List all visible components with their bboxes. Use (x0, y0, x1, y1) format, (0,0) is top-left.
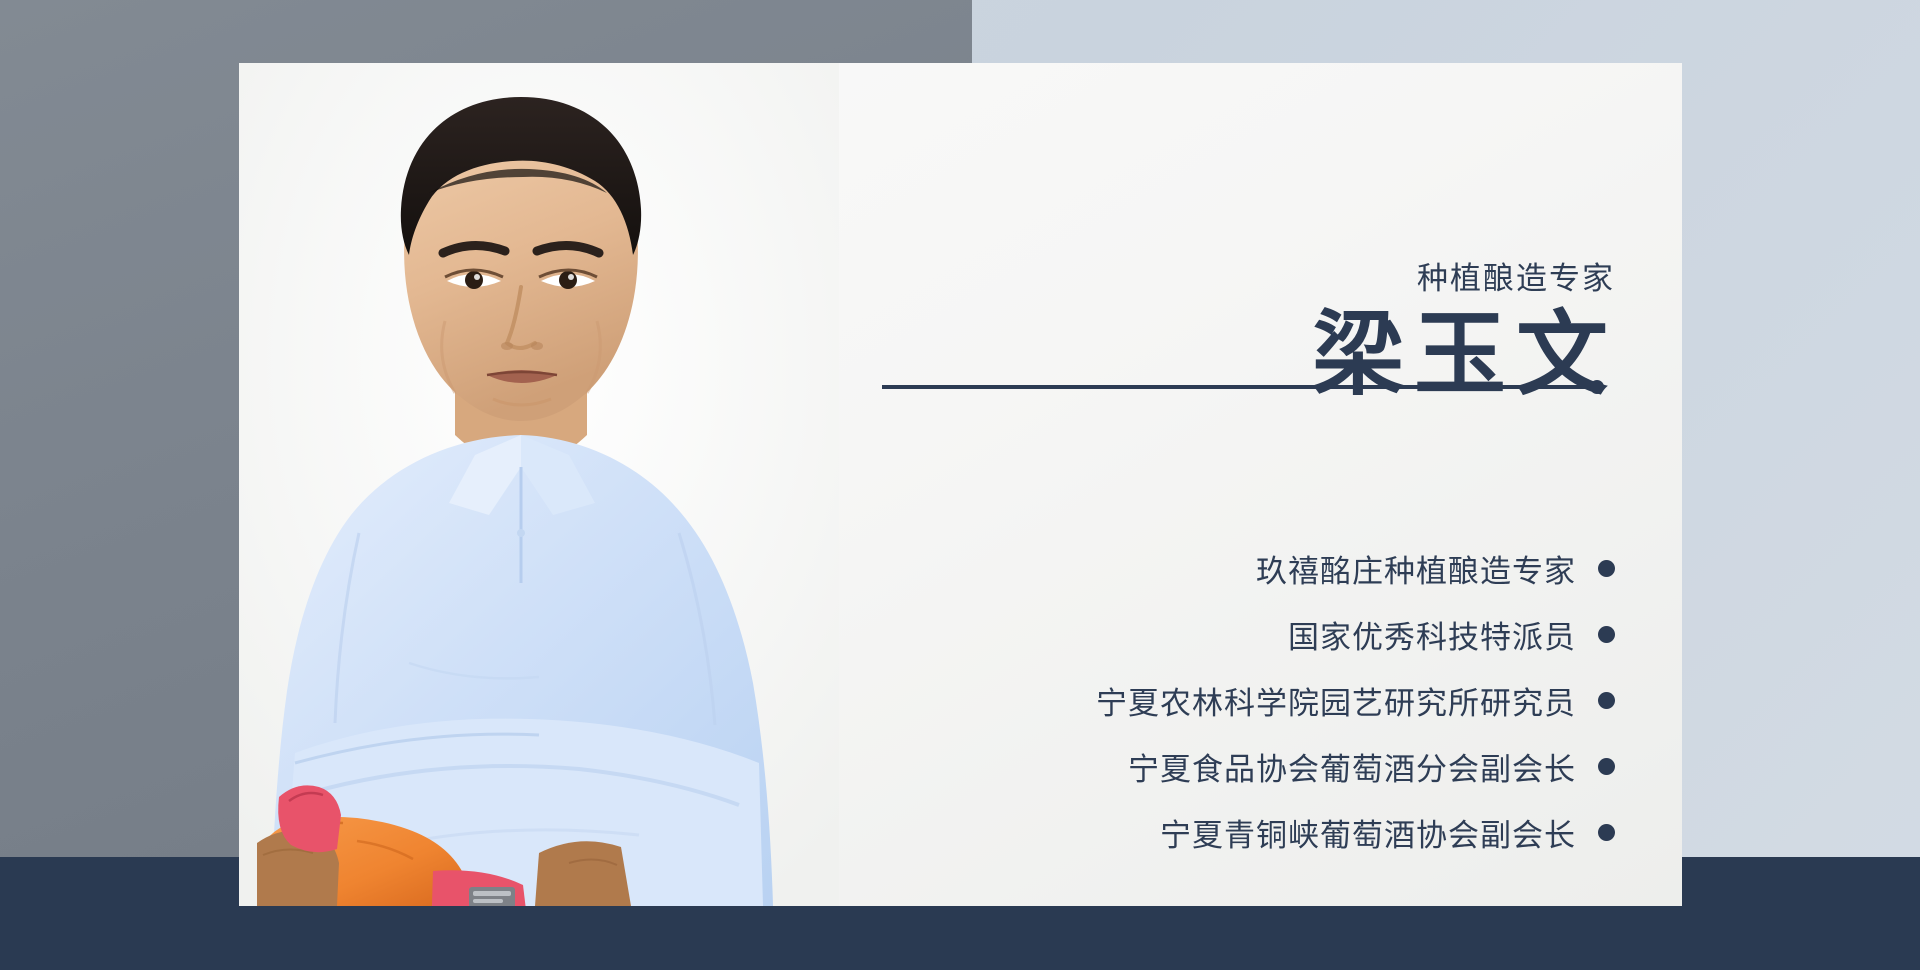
expert-portrait-photo (239, 63, 839, 906)
expert-profile-card: 种植酿造专家 梁玉文 玖禧酩庄种植酿造专家 国家优秀科技特派员 宁夏农林科学院园… (239, 63, 1682, 906)
background-navy-right-band (1681, 857, 1920, 970)
credential-label: 国家优秀科技特派员 (1288, 612, 1576, 657)
list-item: 宁夏食品协会葡萄酒分会副会长 (975, 733, 1615, 799)
credential-label: 宁夏食品协会葡萄酒分会副会长 (1128, 744, 1576, 789)
bullet-dot-icon (1598, 824, 1615, 841)
bullet-dot-icon (1598, 560, 1615, 577)
list-item: 宁夏农林科学院园艺研究所研究员 (975, 667, 1615, 733)
divider-end-dot-icon (1590, 380, 1604, 394)
credential-label: 玖禧酩庄种植酿造专家 (1256, 546, 1576, 591)
list-item: 国家优秀科技特派员 (975, 601, 1615, 667)
expert-info-column: 种植酿造专家 梁玉文 玖禧酩庄种植酿造专家 国家优秀科技特派员 宁夏农林科学院园… (939, 63, 1682, 906)
divider-line (882, 385, 1598, 389)
poster-canvas: 种植酿造专家 梁玉文 玖禧酩庄种植酿造专家 国家优秀科技特派员 宁夏农林科学院园… (0, 0, 1920, 970)
expert-subtitle: 种植酿造专家 (1417, 253, 1615, 298)
bullet-dot-icon (1598, 758, 1615, 775)
bullet-dot-icon (1598, 692, 1615, 709)
credential-label: 宁夏青铜峡葡萄酒协会副会长 (1160, 810, 1576, 855)
list-item: 玖禧酩庄种植酿造专家 (975, 535, 1615, 601)
credential-label: 宁夏农林科学院园艺研究所研究员 (1096, 678, 1576, 723)
bullet-dot-icon (1598, 626, 1615, 643)
list-item: 宁夏青铜峡葡萄酒协会副会长 (975, 799, 1615, 865)
credentials-list: 玖禧酩庄种植酿造专家 国家优秀科技特派员 宁夏农林科学院园艺研究所研究员 宁夏食… (975, 535, 1615, 865)
